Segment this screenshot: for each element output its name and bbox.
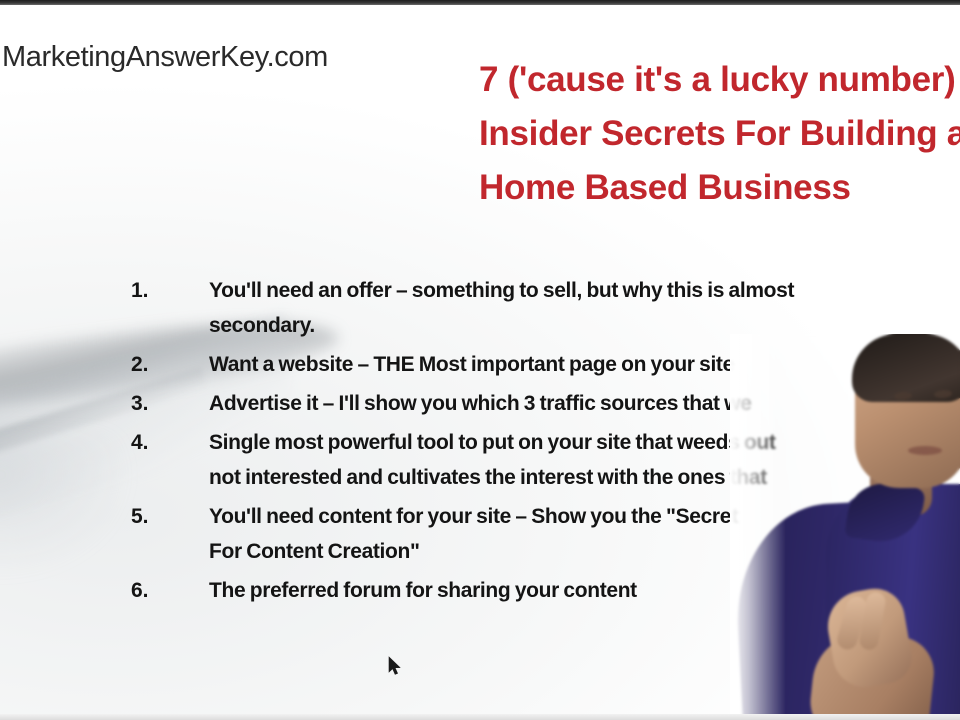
list-item-number: 4. — [131, 425, 209, 460]
headline-line-2: Insider Secrets For Building a — [479, 107, 960, 161]
list-item-number: 3. — [131, 386, 209, 421]
list-item: 3. Advertise it – I'll show you which 3 … — [131, 386, 960, 421]
site-logo: MarketingAnswerKey.com — [2, 41, 328, 74]
list-item-number: 5. — [131, 499, 209, 534]
list-item-text: Want a website – THE Most important page… — [209, 347, 960, 382]
list-item-number: 2. — [131, 347, 209, 382]
headline-line-1: 7 ('cause it's a lucky number) — [479, 53, 960, 107]
presentation-slide: MarketingAnswerKey.com 7 ('cause it's a … — [0, 5, 960, 714]
list-item-text: Advertise it – I'll show you which 3 tra… — [209, 386, 960, 421]
list-item-text: You'll need content for your site – Show… — [209, 499, 960, 569]
list-item: 1. You'll need an offer – something to s… — [131, 273, 960, 343]
letterbox-band-top — [0, 0, 960, 5]
list-item: 2. Want a website – THE Most important p… — [131, 347, 960, 382]
list-item-number: 6. — [131, 573, 209, 608]
numbered-list: 1. You'll need an offer – something to s… — [131, 273, 960, 612]
list-item: 6. The preferred forum for sharing your … — [131, 573, 960, 608]
list-item-text: You'll need an offer – something to sell… — [209, 273, 960, 343]
headline-line-3: Home Based Business — [479, 161, 960, 215]
list-item-text: Single most powerful tool to put on your… — [209, 425, 960, 495]
video-player-frame: MarketingAnswerKey.com 7 ('cause it's a … — [0, 0, 960, 720]
list-item: 4. Single most powerful tool to put on y… — [131, 425, 960, 495]
list-item-text: The preferred forum for sharing your con… — [209, 573, 960, 608]
mouse-cursor-icon — [388, 656, 404, 678]
letterbox-band-bottom — [0, 714, 960, 720]
list-item-number: 1. — [131, 273, 209, 308]
list-item: 5. You'll need content for your site – S… — [131, 499, 960, 569]
slide-headline: 7 ('cause it's a lucky number) Insider S… — [479, 53, 960, 215]
